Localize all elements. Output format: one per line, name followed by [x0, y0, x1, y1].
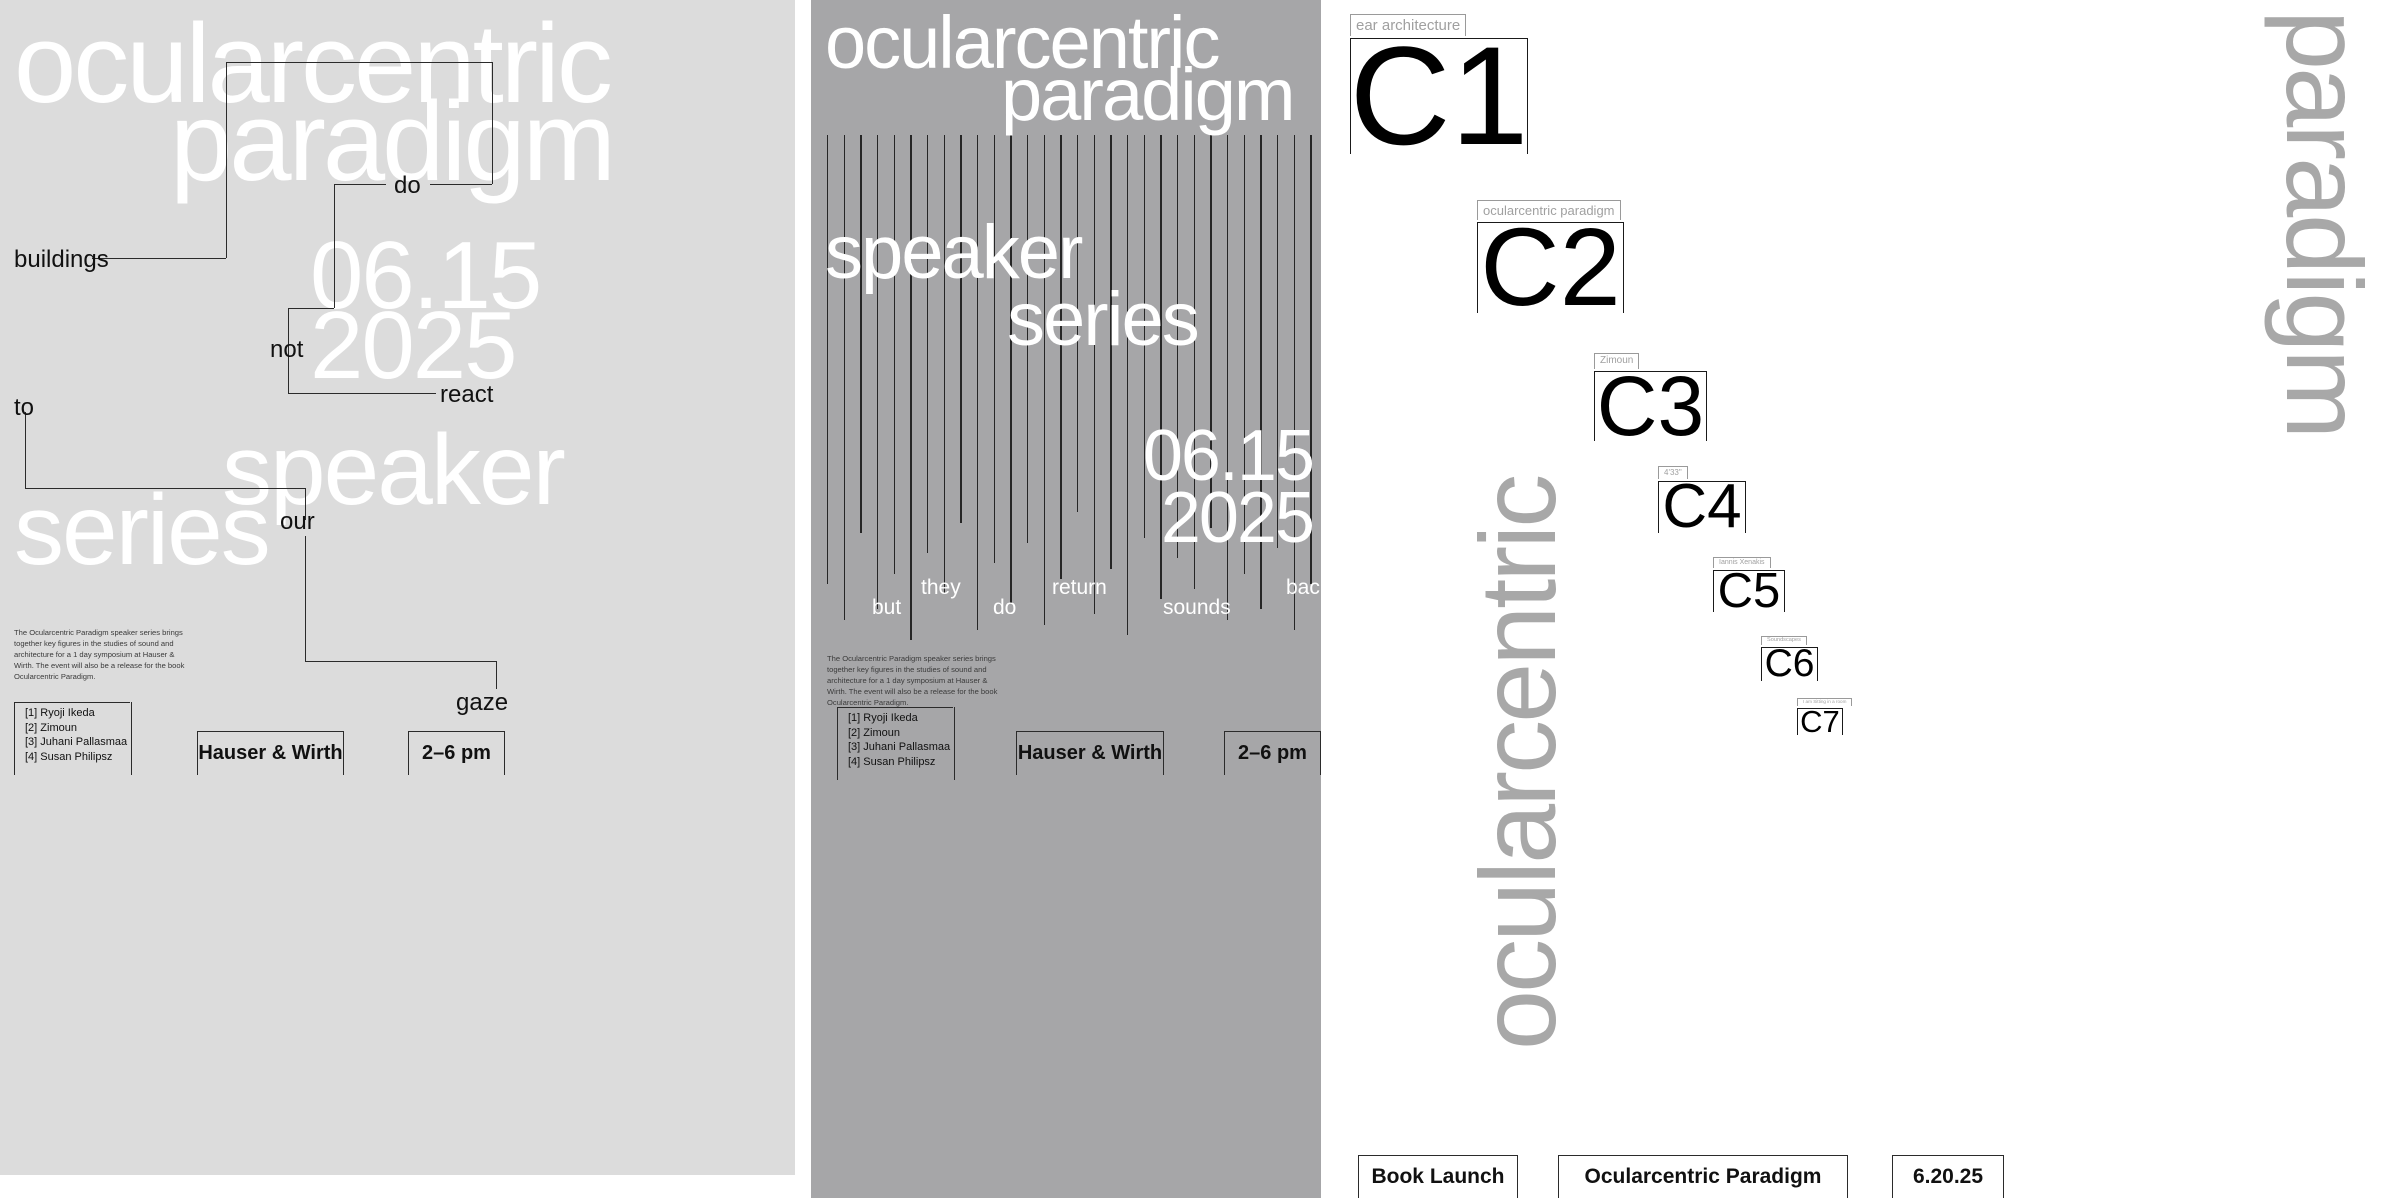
rule-to-horizontal — [25, 488, 306, 489]
poster-b-series-word: series — [1007, 282, 1198, 358]
stripe — [994, 135, 995, 563]
poster-b-venue-tag: Hauser & Wirth — [1016, 731, 1164, 775]
list-item: [1] Ryoji Ikeda — [848, 711, 948, 726]
stripe — [944, 135, 945, 594]
list-item: [2] Zimoun — [25, 721, 125, 736]
rule-our-vertical-lower — [305, 536, 306, 661]
word-not: not — [270, 336, 303, 364]
poster-b-speaker-list: [1] Ryoji Ikeda [2] Zimoun [3] Juhani Pa… — [837, 707, 955, 780]
stripe — [960, 135, 961, 523]
word-react: react — [440, 381, 493, 409]
poster-panel-gray: ocularcentric paradigm speaker series 06… — [811, 0, 1321, 1198]
poster-b-body-text: The Ocularcentric Paradigm speaker serie… — [827, 653, 1007, 708]
rule-top-horizontal — [226, 62, 492, 63]
list-item: [3] Juhani Pallasmaa — [848, 740, 948, 755]
stripe — [1044, 135, 1045, 625]
list-item: [4] Susan Philipsz — [848, 755, 948, 770]
chapter-code-c5: C5 — [1713, 570, 1785, 612]
poster-a-body-text: The Ocularcentric Paradigm speaker serie… — [14, 627, 194, 682]
word-our: our — [280, 508, 315, 536]
poster-b-time-tag: 2–6 pm — [1224, 731, 1321, 775]
stripe-word-sounds: sounds — [1163, 596, 1231, 620]
poster-a-series-word: series — [14, 480, 269, 580]
list-item: [2] Zimoun — [848, 726, 948, 741]
stripe — [827, 135, 828, 584]
rule-buildings-vertical — [226, 62, 227, 258]
poster-b-title-line2: paradigm — [1001, 58, 1294, 132]
list-item: [1] Ryoji Ikeda — [25, 706, 125, 721]
rule-do-right-vertical — [492, 62, 493, 184]
poster-a-speaker-list: [1] Ryoji Ikeda [2] Zimoun [3] Juhani Pa… — [14, 702, 132, 775]
poster-b-date-line2: 2025 — [1161, 482, 1313, 554]
chapter-code-c4: C4 — [1658, 481, 1746, 533]
rule-react-horizontal — [288, 393, 436, 394]
stripe — [927, 135, 928, 553]
stripe — [894, 135, 895, 574]
rule-do-right — [430, 184, 492, 185]
poster-c-book-launch-tag: Book Launch — [1358, 1155, 1518, 1198]
poster-c-title-tag: Ocularcentric Paradigm — [1558, 1155, 1848, 1198]
poster-a-time-tag: 2–6 pm — [408, 731, 505, 775]
chapter-node-c5[interactable]: Iannis Xenakis C5 — [1713, 551, 1785, 612]
poster-a-speaker-word: speaker — [222, 420, 564, 520]
chapter-code-c7: C7 — [1797, 708, 1843, 735]
chapter-node-c4[interactable]: 4'33" C4 — [1658, 462, 1746, 533]
stripe — [1127, 135, 1128, 635]
stripe-word-but: but — [872, 596, 901, 620]
stripe — [860, 135, 861, 533]
word-buildings: buildings — [14, 246, 109, 274]
rule-do-left — [334, 184, 386, 185]
word-to: to — [14, 394, 34, 422]
poster-a-date-line2: 2025 — [310, 298, 516, 394]
chapter-node-c2[interactable]: ocularcentric paradigm C2 — [1477, 200, 1624, 313]
chapter-node-c3[interactable]: Zimoun C3 — [1594, 350, 1707, 441]
rule-buildings-horizontal — [92, 258, 226, 259]
rule-gaze-vertical — [496, 661, 497, 689]
rule-to-vertical — [25, 412, 26, 488]
poster-c-date-tag: 6.20.25 — [1892, 1155, 2004, 1198]
stripe-word-they: they — [921, 576, 961, 600]
rule-not-horizontal — [288, 308, 334, 309]
poster-c-vertical-ocularcentric: ocularcentric — [1464, 477, 1572, 1050]
chapter-code-c6: C6 — [1761, 647, 1818, 681]
stripe — [1010, 135, 1011, 604]
list-item: [3] Juhani Pallasmaa — [25, 735, 125, 750]
chapter-node-c1[interactable]: ear architecture C1 — [1350, 14, 1528, 154]
chapter-code-c1: C1 — [1350, 38, 1528, 154]
word-gaze: gaze — [456, 689, 508, 717]
chapter-node-c7[interactable]: I am Sitting in a room C7 — [1797, 690, 1852, 735]
list-item: [4] Susan Philipsz — [25, 750, 125, 765]
stripe-word-back: back — [1286, 576, 1321, 600]
poster-a-venue-tag: Hauser & Wirth — [197, 731, 344, 775]
rule-not-vertical-upper — [334, 184, 335, 308]
stripe — [1094, 135, 1095, 614]
poster-panel-book: ocularcentric paradigm ear architecture … — [1336, 0, 2386, 1198]
chapter-node-c6[interactable]: Soundscapes C6 — [1761, 628, 1818, 681]
rule-gaze-horizontal — [305, 661, 496, 662]
chapter-code-c3: C3 — [1594, 371, 1707, 441]
stripe-word-do: do — [993, 596, 1016, 620]
chapter-code-c2: C2 — [1477, 222, 1624, 313]
poster-triptych: ocularcentric paradigm 06.15 2025 speake… — [0, 0, 2386, 1198]
stripe-word-return: return — [1052, 576, 1107, 600]
stripe — [877, 135, 878, 609]
stripe — [844, 135, 845, 620]
poster-panel-light: ocularcentric paradigm 06.15 2025 speake… — [0, 0, 795, 1175]
poster-a-title-line2: paradigm — [170, 86, 613, 198]
word-do: do — [394, 172, 421, 200]
poster-c-vertical-paradigm: paradigm — [2270, 10, 2378, 436]
